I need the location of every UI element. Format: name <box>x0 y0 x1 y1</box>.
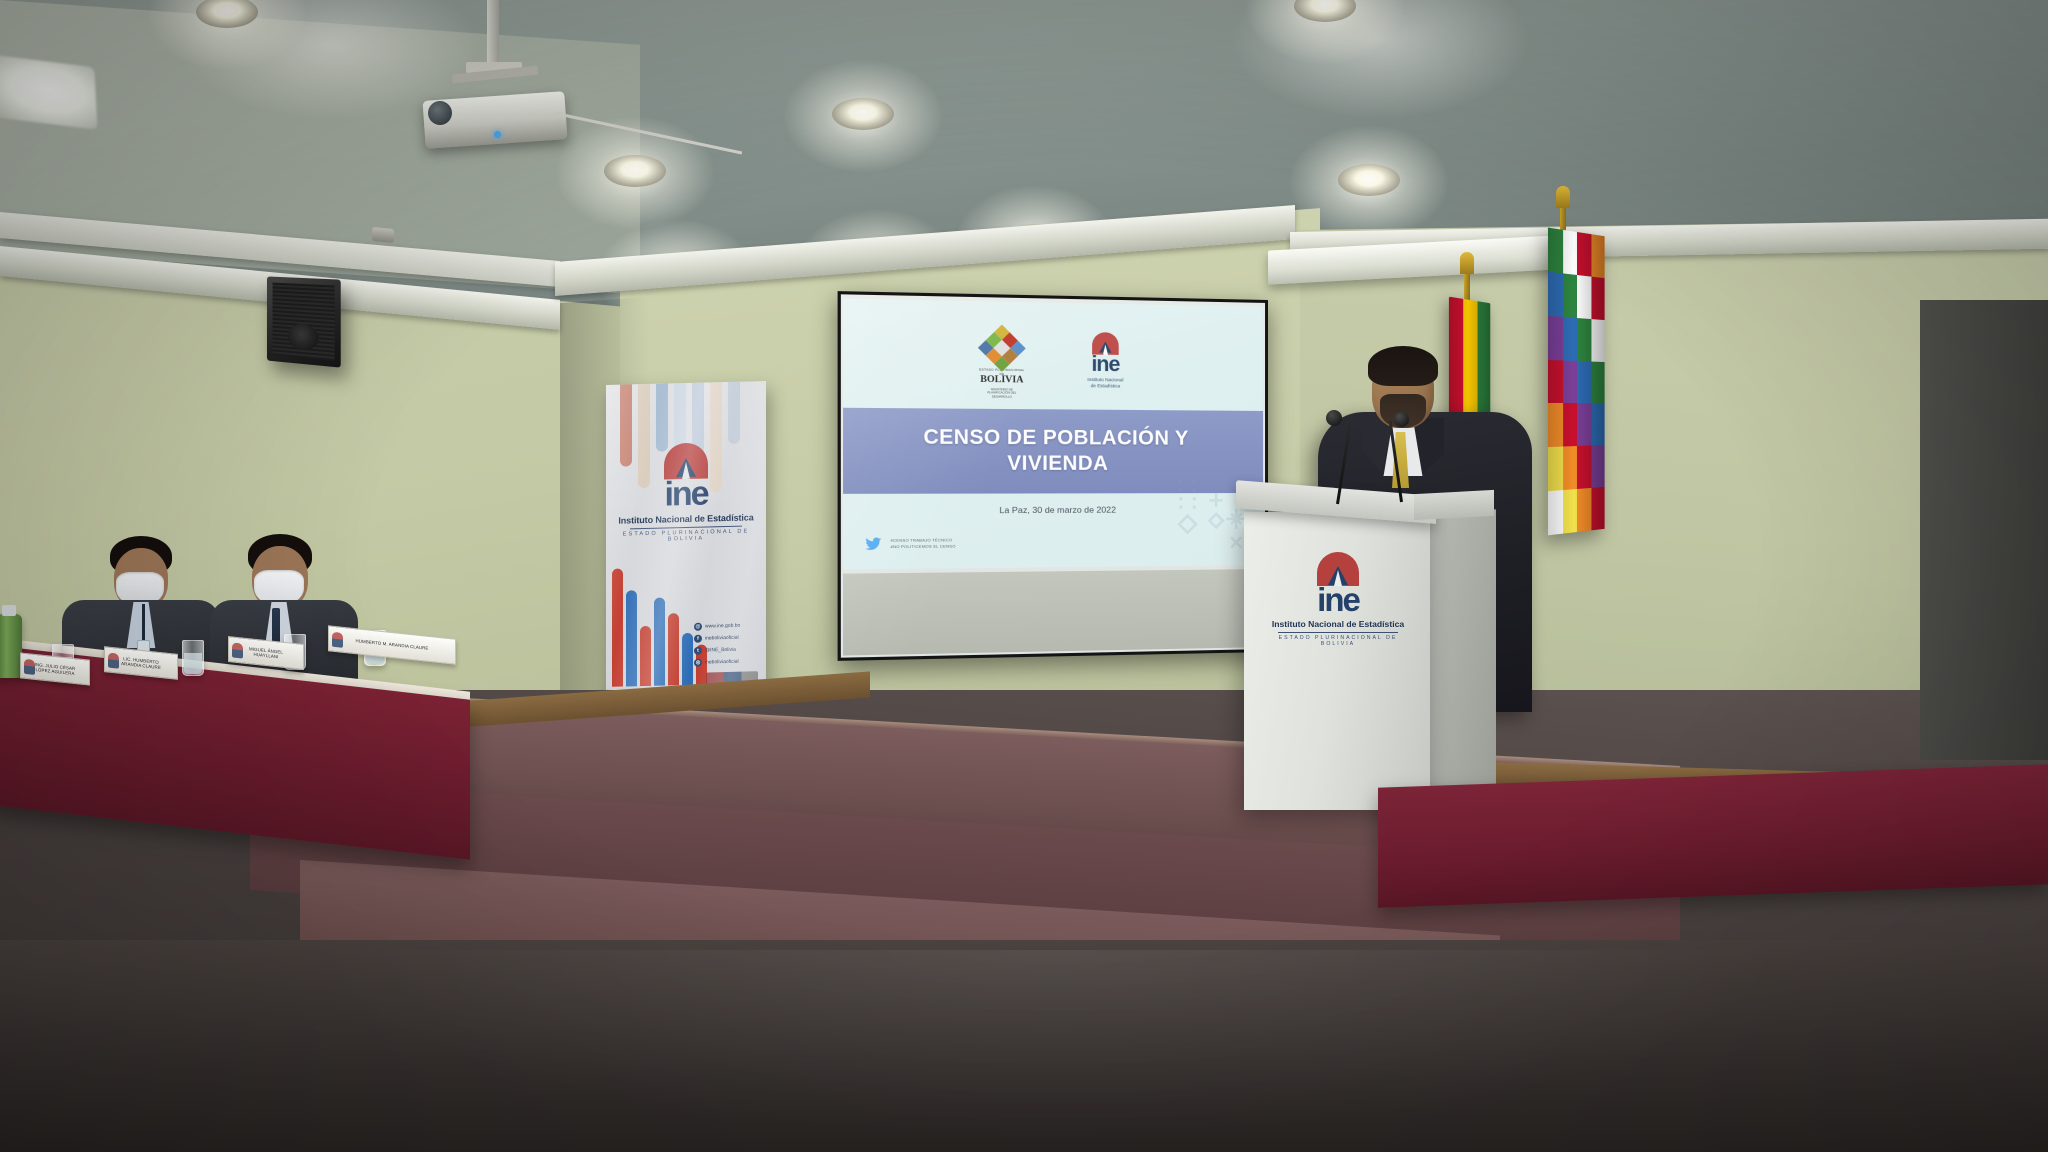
slide-hashtags: #CENSO TRABAJO TÉCNICO #NO POLITICEMOS E… <box>891 537 956 550</box>
ceiling-light <box>1338 164 1400 196</box>
projection-screen: ESTADO PLURINACIONAL DE BOLIVIA MINISTER… <box>838 291 1268 661</box>
podium-side-panel <box>1428 500 1496 810</box>
podium-org-name: Instituto Nacional de Estadística <box>1268 619 1408 629</box>
nameplate-text: LIC. HUMBERTO ARANDIA CLAURE <box>119 655 163 671</box>
nameplate-logo-icon <box>108 653 119 669</box>
banner-country-line: ESTADO PLURINACIONAL DE BOLIVIA <box>606 528 766 544</box>
banner-contact-website: @ www.ine.gob.bo <box>694 621 760 631</box>
speaker-hair <box>1368 346 1438 386</box>
nameplate-logo-icon <box>24 659 35 675</box>
projector-led-icon <box>494 131 501 138</box>
facebook-icon: f <box>694 635 702 643</box>
twitter-icon: t <box>694 647 702 655</box>
panelist-left-lanyard <box>142 604 145 644</box>
flag-finial-icon <box>1460 252 1474 274</box>
banner-contact-instagram: ◎ ineboliviaoficial <box>694 657 760 667</box>
twitter-bird-icon <box>863 536 885 553</box>
ine-peak-icon <box>1317 552 1359 586</box>
projector-mount <box>487 0 499 66</box>
ceiling-light <box>604 155 666 187</box>
slide-content: ESTADO PLURINACIONAL DE BOLIVIA MINISTER… <box>843 299 1263 570</box>
bolivia-logo: ESTADO PLURINACIONAL DE BOLIVIA MINISTER… <box>978 330 1026 399</box>
slide-title-line1: CENSO DE POBLACIÓN Y <box>923 425 1188 452</box>
wall-panel-right <box>1920 300 2048 760</box>
nameplate-text: MIGUEL ÁNGEL HUAYLLANI <box>247 646 285 661</box>
podium-divider <box>1278 632 1398 633</box>
banner-ine-logo: ine Instituto Nacional de Estadística ES… <box>606 441 766 544</box>
nameplate-text: ING. JULIO CÉSAR LÓPEZ AGUILERA <box>33 661 78 677</box>
ine-wordmark: ine <box>1074 355 1137 375</box>
water-glass[interactable] <box>182 640 204 676</box>
ceiling-light <box>196 0 258 28</box>
ine-subtitle: Instituto Nacional de Estadística <box>1074 377 1137 389</box>
wall-speaker-icon <box>267 276 341 367</box>
slide-hashtag-2: #NO POLITICEMOS EL CENSO <box>891 543 956 550</box>
floor-sheen <box>300 950 1800 1140</box>
ceiling-light <box>832 98 894 130</box>
water-bottle[interactable] <box>0 614 22 678</box>
bolivia-name: BOLIVIA <box>978 376 1026 386</box>
banner-instagram-text: ineboliviaoficial <box>705 659 739 666</box>
banner-contact-twitter: t @INE_Bolivia <box>694 645 760 655</box>
banner-facebook-text: ineboliviaoficial <box>705 635 739 642</box>
banner-ine-wordmark: ine <box>606 478 766 511</box>
flag-finial-icon <box>1556 186 1570 208</box>
globe-icon: @ <box>694 623 702 631</box>
rollup-banner: ine Instituto Nacional de Estadística ES… <box>606 381 766 695</box>
screen-blank-area <box>843 569 1263 655</box>
slide-social-block: #CENSO TRABAJO TÉCNICO #NO POLITICEMOS E… <box>863 535 956 552</box>
banner-contact-facebook: f ineboliviaoficial <box>694 633 760 643</box>
instagram-icon: ◎ <box>694 659 702 667</box>
side-table-skirt <box>1378 764 2048 907</box>
slide-logos: ESTADO PLURINACIONAL DE BOLIVIA MINISTER… <box>843 328 1263 409</box>
nameplate-logo-icon <box>232 642 243 658</box>
banner-website-text: www.ine.gob.bo <box>705 623 740 630</box>
ceiling-light <box>1294 0 1356 22</box>
microphone-icon[interactable] <box>1394 412 1409 427</box>
banner-org-name: Instituto Nacional de Estadística <box>606 512 766 526</box>
ceiling-vent-icon <box>372 227 394 243</box>
conference-room-photo: ESTADO PLURINACIONAL DE BOLIVIA MINISTER… <box>0 0 2048 1152</box>
ine-peak-icon <box>1092 332 1119 355</box>
nameplate-logo-icon <box>332 632 343 648</box>
podium-desk-top-right <box>1414 490 1494 520</box>
podium-country-line: ESTADO PLURINACIONAL DE BOLIVIA <box>1268 635 1408 647</box>
slide-ine-logo: ine Instituto Nacional de Estadística <box>1074 332 1137 389</box>
microphone-icon[interactable] <box>1326 410 1342 426</box>
nameplate-text: HUMBERTO M. ARANDIA CLAURE <box>354 638 431 652</box>
podium-ine-logo: ine Instituto Nacional de Estadística ES… <box>1268 552 1408 647</box>
ceiling-panel-light <box>0 54 98 130</box>
bolivia-emblem-icon <box>978 325 1026 372</box>
bolivia-ministry: MINISTERIO DE PLANIFICACIÓN DEL DESARROL… <box>978 388 1026 399</box>
wiphala-flag <box>1548 228 1605 536</box>
slide-title-line2: VIVIENDA <box>1007 451 1108 477</box>
banner-contact-list: @ www.ine.gob.bo f ineboliviaoficial t @… <box>694 621 760 671</box>
banner-twitter-text: @INE_Bolivia <box>705 647 736 654</box>
ine-peak-icon <box>664 442 708 479</box>
podium-ine-wordmark: ine <box>1268 586 1408 614</box>
